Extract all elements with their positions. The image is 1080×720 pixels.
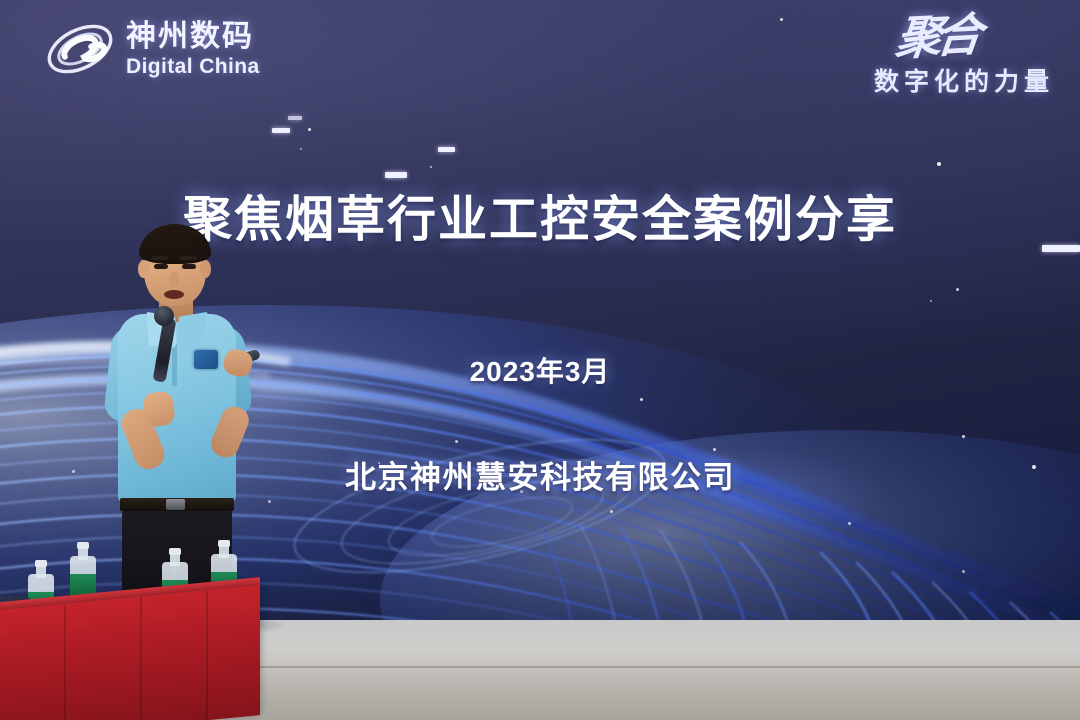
event-calligraphy: 聚合 [871,11,979,62]
chest-logo-badge [194,350,218,369]
sparkle-particle [937,162,941,166]
shirt-collar-right [176,312,207,350]
dash-particle [272,128,290,133]
speaker-mouth [164,290,184,299]
speaker-ear-right [200,260,211,278]
speaker-left-hand [142,390,176,428]
bottle-cap [35,560,47,567]
belt-buckle [166,499,185,510]
dash-particle [288,116,302,120]
speaker-eye-right [182,264,196,269]
bottle-cap [169,548,181,555]
sparkle-particle [780,18,783,21]
sparkle-particle [308,128,311,131]
dash-particle [438,147,455,152]
event-theme-brand: 聚合 数字化的力量 [874,14,1054,98]
bottle-cap [77,542,89,549]
brand-name-en: Digital China [126,56,260,77]
speaker-ear-left [138,260,149,278]
skirt-fold [140,596,142,720]
brand-name-cn: 神州数码 [126,22,260,52]
sparkle-particle [430,166,432,168]
speaker-nose [170,272,179,286]
skirt-fold [206,590,208,720]
event-tagline: 数字化的力量 [874,62,1054,98]
speaker-eyebrow-left [152,256,169,260]
bottle-cap [218,540,230,547]
speaker-figure [96,222,286,622]
speaker-eyebrow-right [180,256,197,260]
speaker-eye-left [154,264,168,269]
sparkle-particle [300,148,302,150]
skirt-fold [64,604,66,720]
conference-photo: 神州数码 Digital China 聚合 数字化的力量 聚焦烟草行业工控安全案… [0,0,1080,720]
sparkle-particle [956,288,959,291]
digital-china-brand: 神州数码 Digital China [44,18,260,80]
digital-china-swirl-logo [44,18,116,80]
dash-particle [385,172,407,178]
speaker-hair [139,224,211,264]
table-skirt [0,585,260,720]
